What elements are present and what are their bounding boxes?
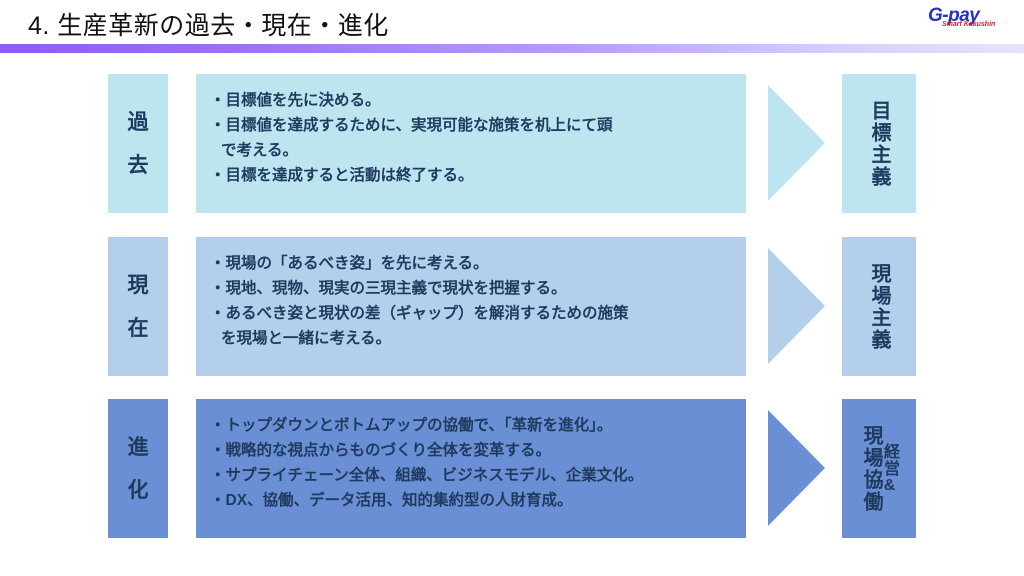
bullet-point-text: ・DX、協働、データ活用、知的集約型の人財育成。: [210, 492, 573, 509]
comparison-row: 過去・目標値を先に決める。・目標値を達成するために、実現可能な施策を机上にて頭で…: [0, 74, 1024, 213]
comparison-row: 現在・現場の「あるべき姿」を先に考える。・現地、現物、現実の三現主義で現状を把握…: [0, 237, 1024, 376]
bullet-point-text: ・目標を達成すると活動は終了する。: [210, 167, 474, 184]
bullet-point-text: ・現地、現物、現実の三現主義で現状を把握する。: [210, 280, 567, 297]
bullet-point-line: ・あるべき姿と現状の差（ギャップ）を解消するための施策: [210, 301, 736, 326]
bullet-point-line: ・トップダウンとボトムアップの協働で、「革新を進化」。: [210, 413, 736, 438]
points-box: ・目標値を先に決める。・目標値を達成するために、実現可能な施策を机上にて頭で考え…: [196, 74, 746, 213]
bullet-point-line: ・目標を達成すると活動は終了する。: [210, 163, 736, 188]
right-arrow-icon: [768, 410, 825, 526]
result-vertical-text: 経営&: [881, 443, 897, 495]
result-box: 現場主義: [842, 237, 916, 376]
era-label: 現在: [108, 237, 168, 376]
bullet-point-line: ・サプライチェーン全体、組織、ビジネスモデル、企業文化。: [210, 463, 736, 488]
points-box: ・現場の「あるべき姿」を先に考える。・現地、現物、現実の三現主義で現状を把握する…: [196, 237, 746, 376]
bullet-point-line: で考える。: [210, 138, 736, 163]
right-arrow-icon: [768, 85, 825, 201]
page-title: 4. 生産革新の過去・現在・進化: [28, 6, 389, 42]
bullet-point-line: ・現地、現物、現実の三現主義で現状を把握する。: [210, 276, 736, 301]
era-label-char: 進: [128, 437, 149, 458]
bullet-point-text: ・あるべき姿と現状の差（ギャップ）を解消するための施策: [210, 305, 629, 322]
era-label-char: 去: [128, 155, 149, 176]
bullet-point-line: ・目標値を先に決める。: [210, 88, 736, 113]
bullet-point-text: ・サプライチェーン全体、組織、ビジネスモデル、企業文化。: [210, 467, 643, 484]
bullet-point-text: ・目標値を先に決める。: [210, 92, 381, 109]
era-label-char: 現: [128, 275, 149, 296]
title-underline-rule: [0, 44, 1024, 53]
result-vertical-text: 現場主義: [869, 263, 889, 351]
slide-header: 4. 生産革新の過去・現在・進化 G-pay Smart Kakushin: [0, 0, 1024, 56]
bullet-point-line: ・戦略的な視点からものづくり全体を変革する。: [210, 438, 736, 463]
bullet-point-line: ・目標値を達成するために、実現可能な施策を机上にて頭: [210, 113, 736, 138]
bullet-point-text: ・現場の「あるべき姿」を先に考える。: [210, 255, 489, 272]
era-label: 進化: [108, 399, 168, 538]
result-vertical-text: 目標主義: [869, 100, 889, 188]
era-label-char: 化: [128, 480, 149, 501]
brand-logo: G-pay Smart Kakushin: [928, 4, 1014, 38]
era-label: 過去: [108, 74, 168, 213]
bullet-point-line: ・DX、協働、データ活用、知的集約型の人財育成。: [210, 488, 736, 513]
bullet-point-text: ・戦略的な視点からものづくり全体を変革する。: [210, 442, 551, 459]
era-label-char: 在: [128, 318, 149, 339]
brand-logo-tagline: Smart Kakushin: [942, 21, 995, 28]
bullet-point-text: で考える。: [210, 138, 298, 163]
comparison-row: 進化・トップダウンとボトムアップの協働で、「革新を進化」。・戦略的な視点からもの…: [0, 399, 1024, 538]
bullet-point-text: を現場と一緒に考える。: [210, 326, 391, 351]
bullet-point-text: ・トップダウンとボトムアップの協働で、「革新を進化」。: [210, 417, 612, 434]
bullet-point-text: ・目標値を達成するために、実現可能な施策を机上にて頭: [210, 117, 613, 134]
result-box: 目標主義: [842, 74, 916, 213]
points-box: ・トップダウンとボトムアップの協働で、「革新を進化」。・戦略的な視点からものづく…: [196, 399, 746, 538]
bullet-point-line: ・現場の「あるべき姿」を先に考える。: [210, 251, 736, 276]
right-arrow-icon: [768, 248, 825, 364]
result-vertical-text: 現場協働: [861, 425, 881, 513]
bullet-point-line: を現場と一緒に考える。: [210, 326, 736, 351]
era-label-char: 過: [128, 112, 149, 133]
result-box: 現場協働経営&: [842, 399, 916, 538]
